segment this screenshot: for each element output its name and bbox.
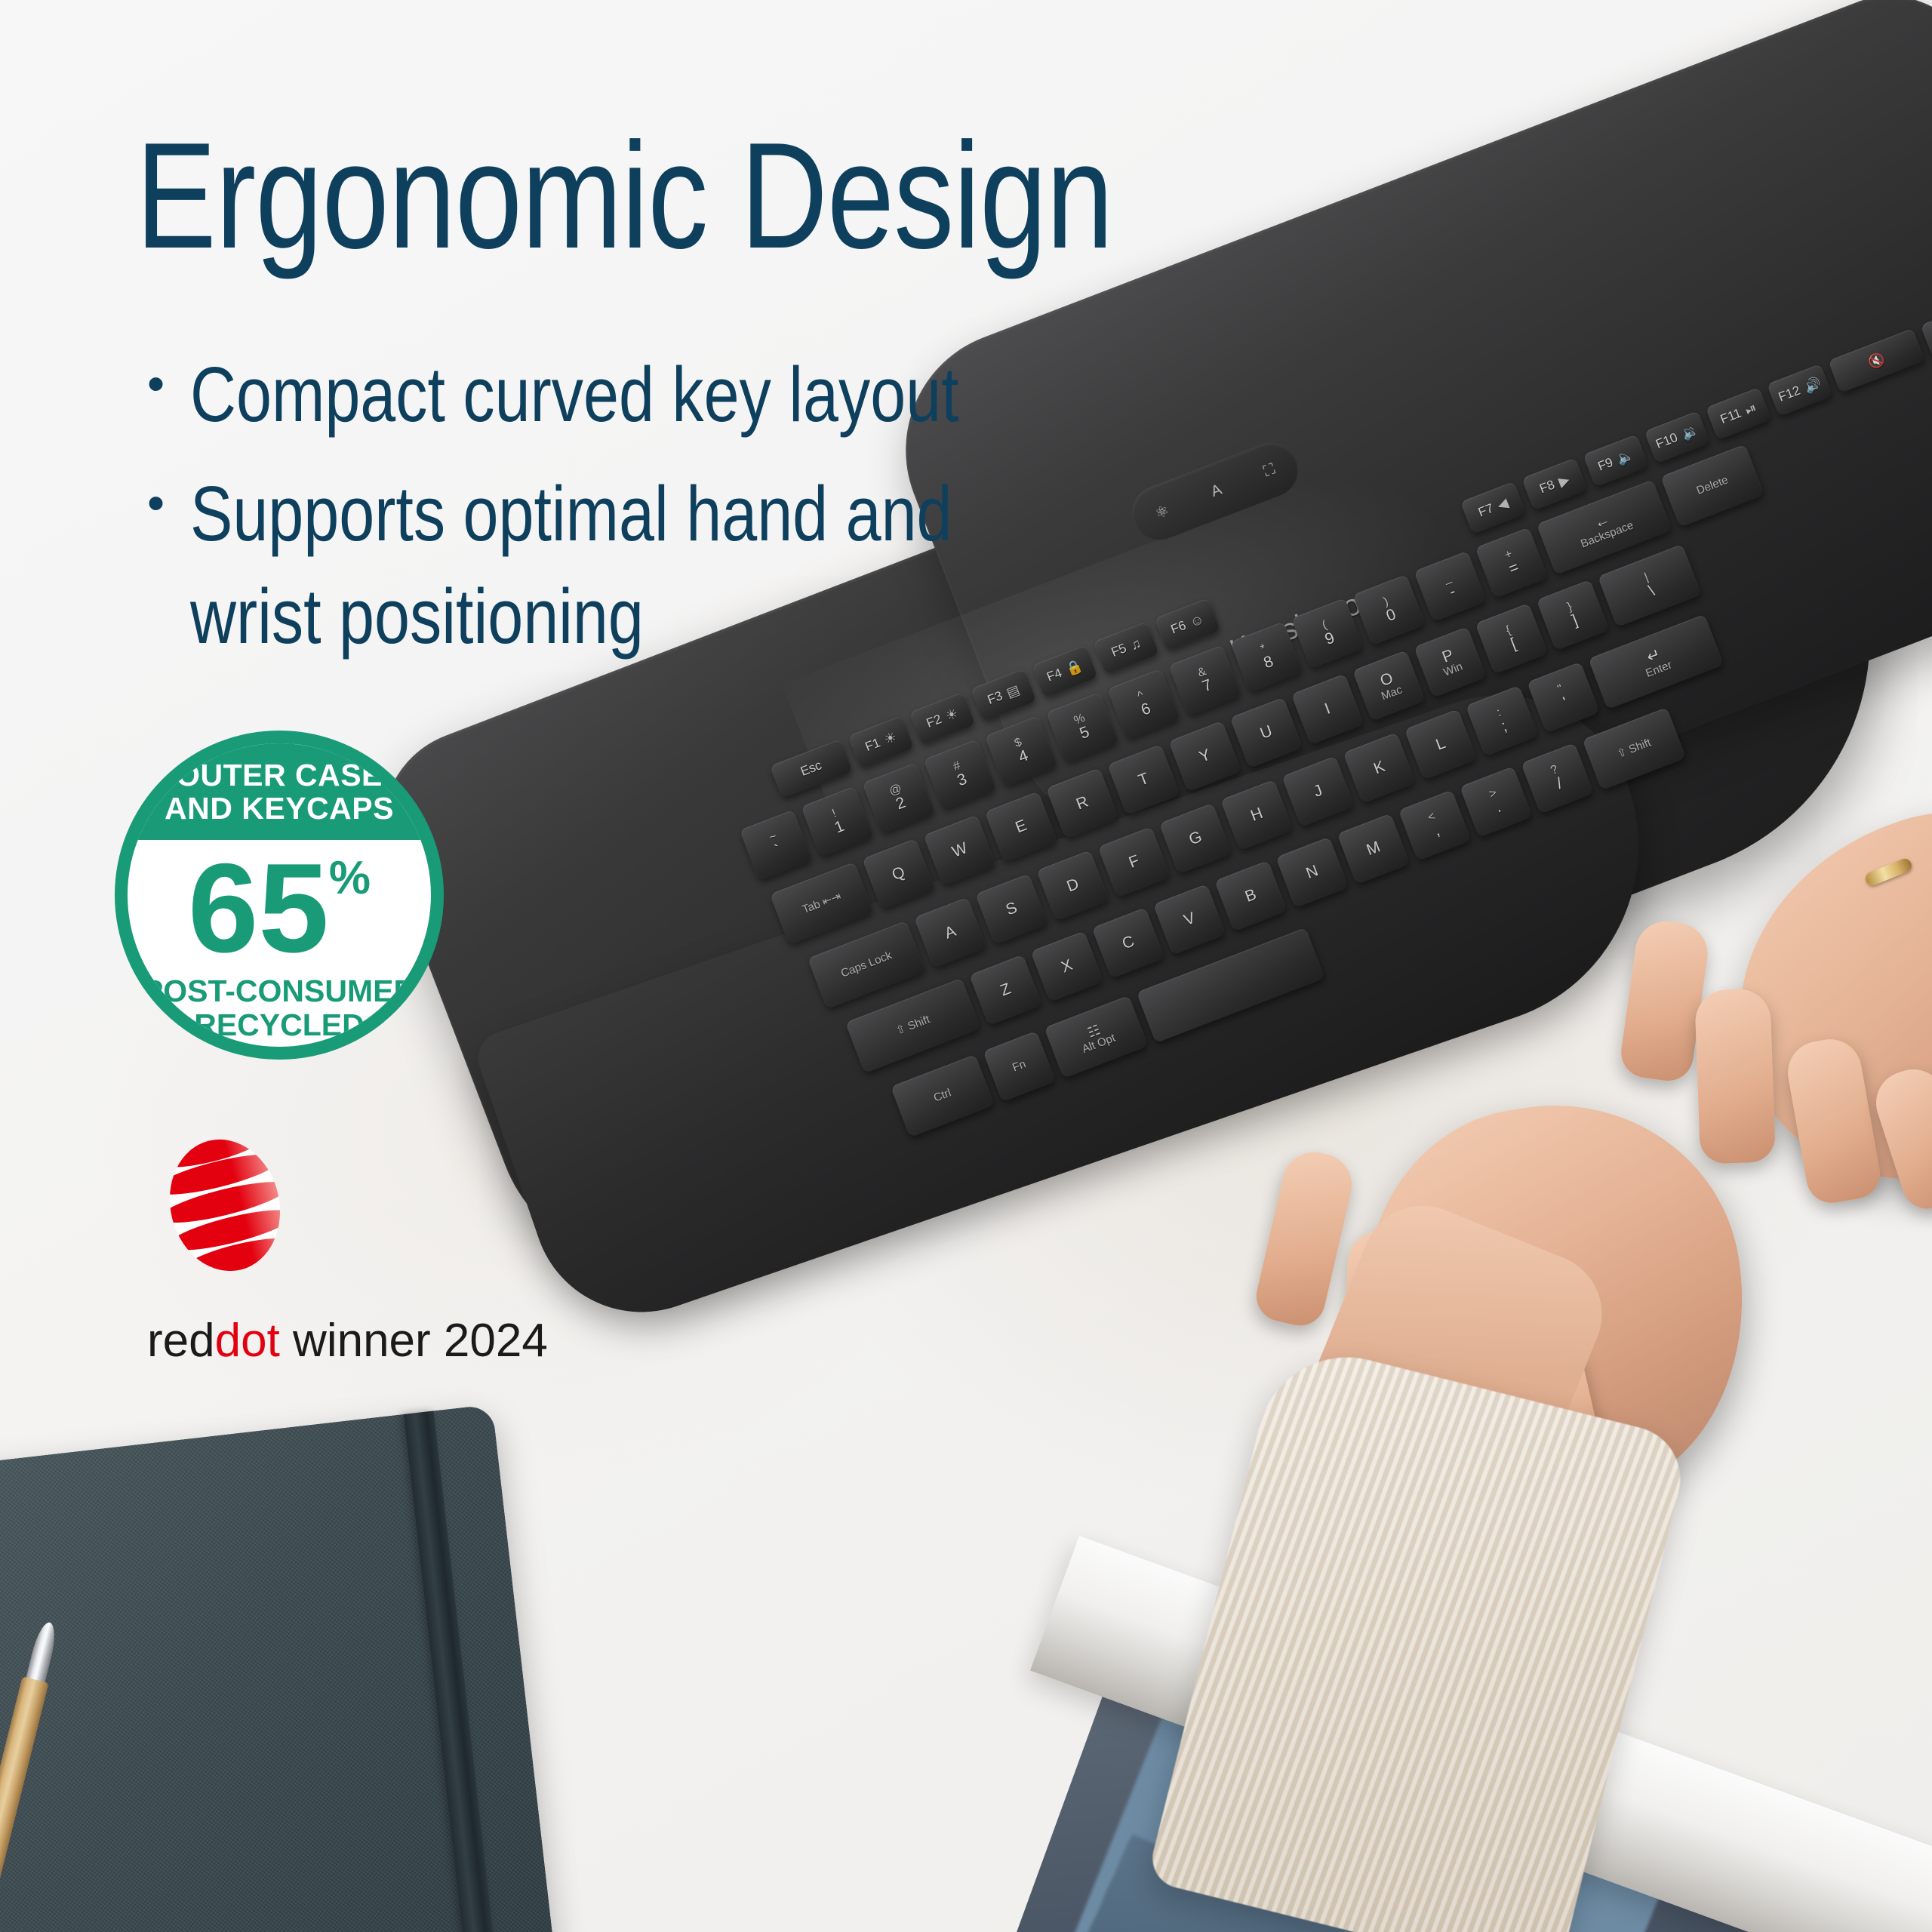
reddot-award-label: reddot winner 2024 xyxy=(147,1314,548,1367)
badge-value: 65 xyxy=(188,844,329,971)
bullet-text: Compact curved key layout xyxy=(190,343,959,446)
bullet-compact-layout: • Compact curved key layout xyxy=(147,343,1128,446)
badge-subtitle: POST-CONSUMER RECYCLED xyxy=(143,974,416,1042)
reddot-award: reddot winner 2024 xyxy=(147,1136,548,1367)
badge-subtitle-line2: RECYCLED xyxy=(143,1008,416,1042)
page-title: Ergonomic Design xyxy=(136,121,1112,272)
reddot-word-red: red xyxy=(147,1315,215,1367)
bullet-marker: • xyxy=(147,348,165,420)
reddot-sphere-logo xyxy=(161,1136,289,1275)
badge-subtitle-line1: POST-CONSUMER xyxy=(143,974,416,1008)
badge-header-line1: OUTER CASE xyxy=(176,758,383,792)
bullet-hand-wrist: • Supports optimal hand and wrist positi… xyxy=(147,463,1128,668)
reddot-word-dot: dot xyxy=(215,1315,280,1367)
badge-percentage: 65 % xyxy=(188,844,371,971)
marketing-overlay: Ergonomic Design • Compact curved key la… xyxy=(0,0,1932,1932)
bullet-text: Supports optimal hand and wrist position… xyxy=(190,463,952,668)
bullet-marker: • xyxy=(147,467,165,540)
badge-header-line2: AND KEYCAPS xyxy=(165,792,394,825)
badge-header: OUTER CASE AND KEYCAPS xyxy=(128,743,431,840)
badge-percent-sign: % xyxy=(329,855,371,902)
reddot-word-winner-year: winner 2024 xyxy=(280,1315,548,1367)
recycled-content-badge: OUTER CASE AND KEYCAPS 65 % POST-CONSUME… xyxy=(115,731,444,1060)
feature-bullet-list: • Compact curved key layout • Supports o… xyxy=(147,343,1128,685)
